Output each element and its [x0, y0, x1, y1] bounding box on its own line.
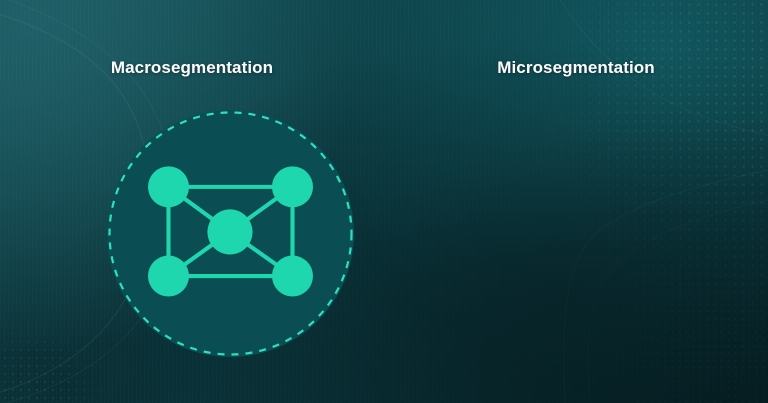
- macro-node-bottom-left: [148, 256, 189, 297]
- infographic-canvas: Macrosegmentation: [0, 0, 768, 403]
- macrosegmentation-disc: [107, 110, 354, 357]
- macro-node-bottom-right: [272, 256, 313, 297]
- macro-node-center: [207, 209, 252, 254]
- macro-node-top-right: [272, 166, 313, 207]
- macro-node-top-left: [148, 166, 189, 207]
- macro-network-diagram: [107, 110, 354, 354]
- panel-microsegmentation: Microsegmentation: [384, 0, 768, 403]
- microsegmentation-title: Microsegmentation: [384, 58, 768, 78]
- panel-macrosegmentation: Macrosegmentation: [0, 0, 384, 403]
- macrosegmentation-title: Macrosegmentation: [0, 58, 384, 78]
